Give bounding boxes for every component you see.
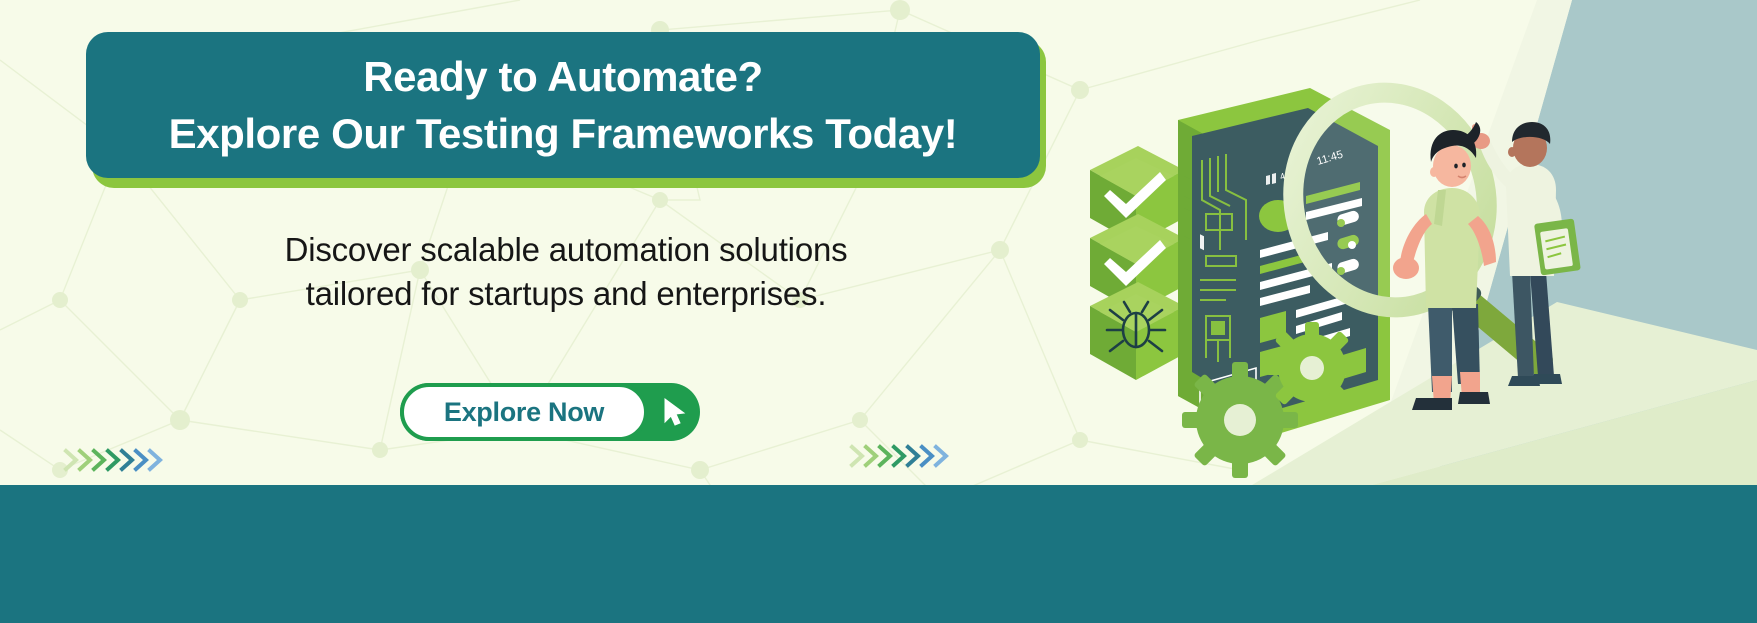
headline-line-2: Explore Our Testing Frameworks Today! [169, 105, 958, 162]
plaque-body: Ready to Automate? Explore Our Testing F… [86, 32, 1040, 178]
promo-banner: 4G 11:45 [0, 0, 1757, 623]
headline-plaque: Ready to Automate? Explore Our Testing F… [86, 32, 1046, 184]
clipboard-icon [1534, 218, 1581, 275]
cta-label: Explore Now [444, 397, 604, 428]
subheading-line-1: Discover scalable automation solutions [86, 228, 1046, 272]
subheading: Discover scalable automation solutions t… [86, 228, 1046, 315]
subheading-line-2: tailored for startups and enterprises. [86, 272, 1046, 316]
explore-now-button[interactable]: Explore Now [400, 383, 700, 441]
bottom-teal-bar [0, 485, 1757, 623]
chevron-row-right [848, 441, 958, 471]
cta-white-pill[interactable]: Explore Now [400, 383, 648, 441]
bug-tile [1090, 282, 1184, 380]
chevron-row-left [62, 445, 172, 475]
headline-line-1: Ready to Automate? [363, 48, 763, 105]
automation-testing-illustration: 4G 11:45 [1060, 0, 1757, 500]
woman-hand [1393, 257, 1419, 279]
gear-icon-small [1266, 322, 1358, 414]
cursor-arrow-icon[interactable] [648, 383, 700, 441]
